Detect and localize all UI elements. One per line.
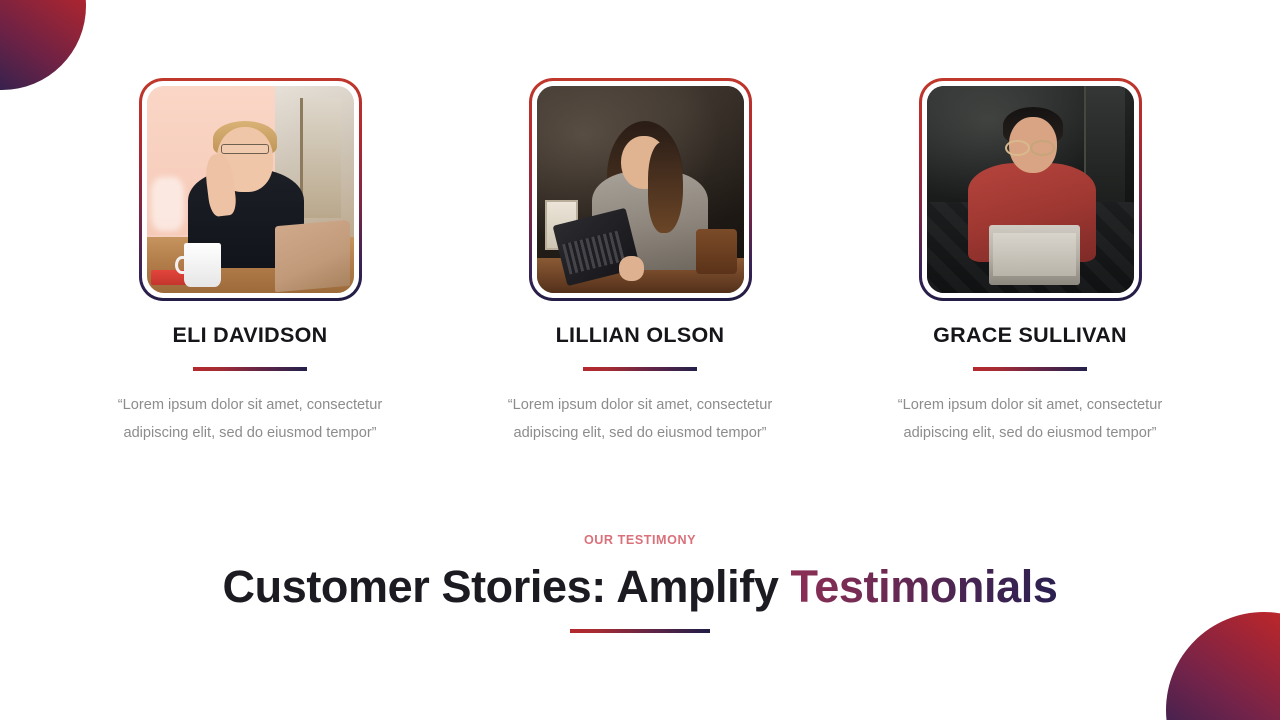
testimonial-quote: “Lorem ipsum dolor sit amet, consectetur… xyxy=(116,391,384,447)
photo-frame-inner xyxy=(142,81,359,298)
heading-block: OUR TESTIMONY Customer Stories: Amplify … xyxy=(0,533,1280,633)
name-divider xyxy=(583,367,697,371)
testimonial-slide: ELI DAVIDSON “Lorem ipsum dolor sit amet… xyxy=(0,0,1280,720)
testimonial-quote: “Lorem ipsum dolor sit amet, consectetur… xyxy=(506,391,774,447)
testimonial-card-row: ELI DAVIDSON “Lorem ipsum dolor sit amet… xyxy=(0,78,1280,447)
testimonial-name: LILLIAN OLSON xyxy=(556,323,725,348)
avatar-photo-lillian-olson xyxy=(537,86,744,293)
heading-divider xyxy=(570,629,710,633)
page-title-plain: Customer Stories: Amplify xyxy=(223,561,791,612)
avatar-photo-eli-davidson xyxy=(147,86,354,293)
testimonial-card[interactable]: ELI DAVIDSON “Lorem ipsum dolor sit amet… xyxy=(139,78,362,447)
section-eyebrow: OUR TESTIMONY xyxy=(584,533,696,547)
photo-frame xyxy=(919,78,1142,301)
name-divider xyxy=(973,367,1087,371)
name-divider xyxy=(193,367,307,371)
page-title-accent: Testimonials xyxy=(791,561,1058,612)
photo-frame xyxy=(529,78,752,301)
testimonial-name: ELI DAVIDSON xyxy=(173,323,328,348)
photo-frame-inner xyxy=(532,81,749,298)
testimonial-card[interactable]: LILLIAN OLSON “Lorem ipsum dolor sit ame… xyxy=(529,78,752,447)
photo-frame xyxy=(139,78,362,301)
avatar-photo-grace-sullivan xyxy=(927,86,1134,293)
testimonial-name: GRACE SULLIVAN xyxy=(933,323,1127,348)
photo-frame-inner xyxy=(922,81,1139,298)
testimonial-quote: “Lorem ipsum dolor sit amet, consectetur… xyxy=(896,391,1164,447)
page-title: Customer Stories: Amplify Testimonials xyxy=(223,561,1058,613)
top-left-gradient-circle xyxy=(0,0,86,90)
testimonial-card[interactable]: GRACE SULLIVAN “Lorem ipsum dolor sit am… xyxy=(919,78,1142,447)
